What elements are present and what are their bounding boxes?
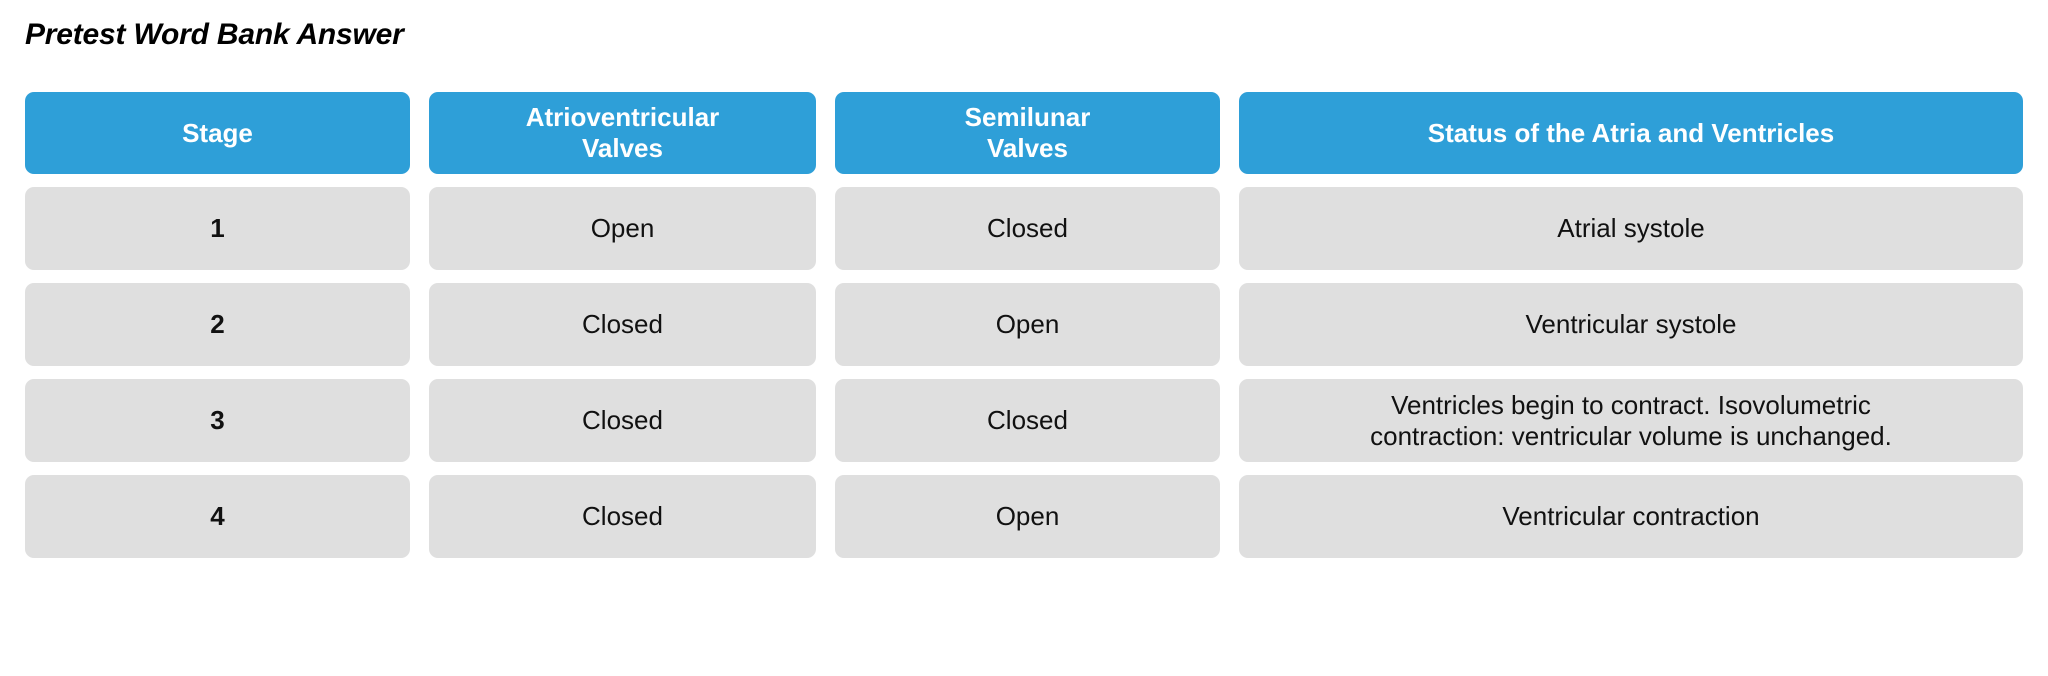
- cell-atrioventricular-valves: Closed: [429, 475, 816, 558]
- cell-status: Ventricular systole: [1239, 283, 2023, 366]
- header-label-semilunar-valves: Semilunar Valves: [965, 102, 1091, 163]
- cell-text-atrioventricular-valves: Closed: [582, 309, 663, 340]
- header-cell-semilunar-valves: Semilunar Valves: [835, 92, 1220, 174]
- header-cell-stage: Stage: [25, 92, 410, 174]
- cell-text-semilunar-valves: Closed: [987, 405, 1068, 436]
- cell-atrioventricular-valves: Closed: [429, 379, 816, 462]
- cell-stage: 1: [25, 187, 410, 270]
- table-row: 3 Closed Closed Ventricles begin to cont…: [25, 379, 2023, 462]
- cell-text-status: Atrial systole: [1557, 213, 1704, 244]
- table-row: 2 Closed Open Ventricular systole: [25, 283, 2023, 366]
- header-label-atrioventricular-valves: Atrioventricular Valves: [526, 102, 720, 163]
- cell-stage: 4: [25, 475, 410, 558]
- table-header-row: Stage Atrioventricular Valves Semilunar …: [25, 92, 2023, 174]
- cell-status: Ventricles begin to contract. Isovolumet…: [1239, 379, 2023, 462]
- cell-text-stage: 1: [210, 213, 224, 244]
- cell-text-atrioventricular-valves: Closed: [582, 501, 663, 532]
- cell-text-semilunar-valves: Open: [996, 309, 1060, 340]
- header-label-status: Status of the Atria and Ventricles: [1428, 118, 1834, 149]
- table-row: 1 Open Closed Atrial systole: [25, 187, 2023, 270]
- cell-text-stage: 2: [210, 309, 224, 340]
- cell-text-semilunar-valves: Closed: [987, 213, 1068, 244]
- cell-text-status: Ventricular systole: [1526, 309, 1737, 340]
- cell-text-status: Ventricles begin to contract. Isovolumet…: [1370, 390, 1892, 451]
- cell-atrioventricular-valves: Closed: [429, 283, 816, 366]
- cell-status: Ventricular contraction: [1239, 475, 2023, 558]
- cell-status: Atrial systole: [1239, 187, 2023, 270]
- cell-stage: 2: [25, 283, 410, 366]
- cell-semilunar-valves: Open: [835, 283, 1220, 366]
- cell-stage: 3: [25, 379, 410, 462]
- table-row: 4 Closed Open Ventricular contraction: [25, 475, 2023, 558]
- cell-text-atrioventricular-valves: Open: [591, 213, 655, 244]
- cardiac-cycle-table: Stage Atrioventricular Valves Semilunar …: [25, 92, 2023, 558]
- cell-text-status: Ventricular contraction: [1502, 501, 1759, 532]
- cell-text-stage: 4: [210, 501, 224, 532]
- cell-semilunar-valves: Open: [835, 475, 1220, 558]
- header-cell-atrioventricular-valves: Atrioventricular Valves: [429, 92, 816, 174]
- cell-text-semilunar-valves: Open: [996, 501, 1060, 532]
- page-title: Pretest Word Bank Answer: [25, 18, 404, 52]
- header-label-stage: Stage: [182, 118, 253, 149]
- cell-text-atrioventricular-valves: Closed: [582, 405, 663, 436]
- header-cell-status: Status of the Atria and Ventricles: [1239, 92, 2023, 174]
- cell-semilunar-valves: Closed: [835, 379, 1220, 462]
- cell-text-stage: 3: [210, 405, 224, 436]
- cell-semilunar-valves: Closed: [835, 187, 1220, 270]
- cell-atrioventricular-valves: Open: [429, 187, 816, 270]
- page-root: Pretest Word Bank Answer Stage Atriovent…: [0, 0, 2048, 676]
